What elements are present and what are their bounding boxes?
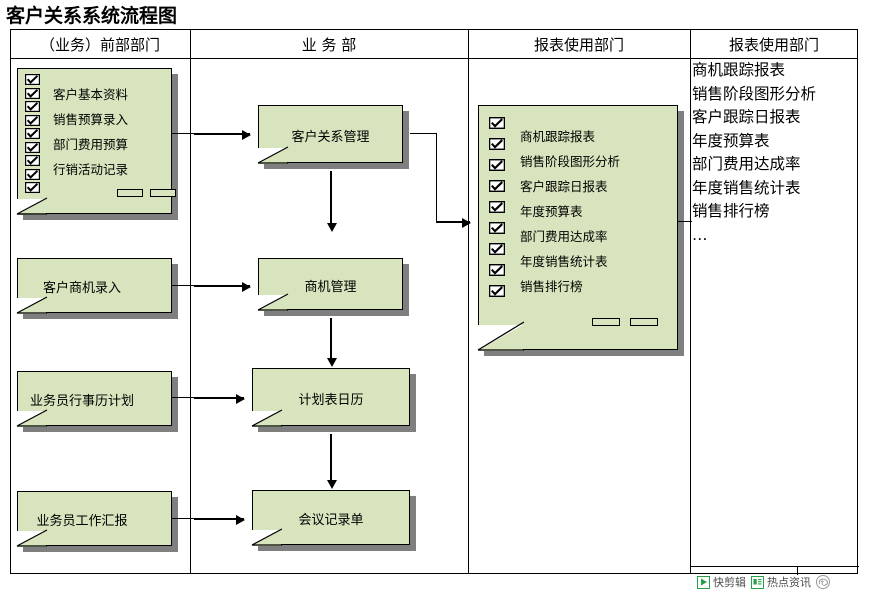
column-divider-1 xyxy=(190,29,191,574)
node-label: 业务员行事历计划 xyxy=(0,390,172,409)
doc-item: 年度预算表 xyxy=(520,199,620,224)
checkbox-checked-icon[interactable] xyxy=(489,117,505,129)
connector-vert-1 xyxy=(436,133,437,221)
ie-browser-icon[interactable] xyxy=(816,575,830,589)
doc-item-list: 客户基本资料销售预算录入部门费用预算行销活动记录 xyxy=(53,82,128,182)
checkbox-checked-icon[interactable] xyxy=(489,159,505,171)
report-list-item: … xyxy=(692,224,856,248)
doc-item: 行销活动记录 xyxy=(53,157,128,182)
checkbox-checked-icon[interactable] xyxy=(25,101,40,112)
node-label: 业务员工作汇报 xyxy=(0,510,172,529)
toolbar-label-quick-edit: 快剪辑 xyxy=(713,574,746,590)
flowchart-page: 客户关系系统流程图 （业务）前部部门 业 务 部 报表使用部门 报表使用部门 客… xyxy=(0,0,891,590)
folded-corner-edge xyxy=(251,528,285,546)
doc-button-pair[interactable] xyxy=(592,318,658,326)
checkbox-checked-icon[interactable] xyxy=(25,155,40,166)
checkbox-checked-icon[interactable] xyxy=(25,142,40,153)
folded-corner-edge xyxy=(16,529,50,547)
connector-stub-4 xyxy=(172,518,194,519)
checkbox-checked-icon[interactable] xyxy=(25,182,40,193)
toolbar-top-rule xyxy=(691,566,859,567)
checkbox-checked-icon[interactable] xyxy=(489,180,505,192)
play-clip-icon[interactable] xyxy=(697,576,710,589)
arrow-crm-to-reports xyxy=(436,221,470,223)
arrow-crm-to-opp-mgmt xyxy=(330,171,332,223)
doc-item: 客户基本资料 xyxy=(53,82,128,107)
column-header-report-dept-2: 报表使用部门 xyxy=(690,33,858,57)
doc-button-1[interactable] xyxy=(592,318,620,326)
toolbar-item-hot-news[interactable]: 热点资讯 xyxy=(751,574,811,590)
toolbar-label-hot-news: 热点资讯 xyxy=(767,574,811,590)
connector-stub-6 xyxy=(678,221,692,222)
checkbox-checked-icon[interactable] xyxy=(25,115,40,126)
arrow-opp-mgmt-to-plan-calendar xyxy=(330,318,332,358)
node-label: 计划表日历 xyxy=(252,389,410,408)
checkbox-column xyxy=(489,117,505,306)
report-text-list: 商机跟踪报表销售阶段图形分析客户跟踪日报表年度预算表部门费用达成率年度销售统计表… xyxy=(692,59,856,247)
node-salesperson-calendar-plan[interactable]: 业务员行事历计划 xyxy=(17,371,172,426)
checkbox-checked-icon[interactable] xyxy=(25,169,40,180)
connector-stub-1 xyxy=(172,133,194,134)
folded-corner-edge xyxy=(16,197,50,215)
checkbox-checked-icon[interactable] xyxy=(25,128,40,139)
doc-button-pair[interactable] xyxy=(117,189,176,197)
checkbox-checked-icon[interactable] xyxy=(489,264,505,276)
arrow-calendar-plan-to-plan-calendar xyxy=(194,397,244,399)
checkbox-checked-icon[interactable] xyxy=(25,88,40,99)
column-header-front-dept: （业务）前部部门 xyxy=(10,33,190,57)
folded-corner-edge xyxy=(257,146,291,164)
report-list-item: 客户跟踪日报表 xyxy=(692,106,856,130)
folded-corner-edge xyxy=(16,409,50,427)
doc-item: 商机跟踪报表 xyxy=(520,124,620,149)
column-divider-2 xyxy=(468,29,469,574)
doc-item: 客户跟踪日报表 xyxy=(520,174,620,199)
node-meeting-record[interactable]: 会议记录单 xyxy=(252,490,410,545)
node-crm-management[interactable]: 客户关系管理 xyxy=(258,105,403,163)
arrow-basic-to-crm xyxy=(194,133,250,135)
node-salesperson-work-report[interactable]: 业务员工作汇报 xyxy=(17,491,172,546)
checkbox-checked-icon[interactable] xyxy=(489,222,505,234)
node-label: 客户商机录入 xyxy=(0,277,172,296)
checkbox-column xyxy=(25,74,40,196)
folded-corner-edge xyxy=(257,293,291,311)
folded-corner-edge xyxy=(251,409,285,427)
node-opportunity-management[interactable]: 商机管理 xyxy=(258,258,403,310)
doc-item: 销售阶段图形分析 xyxy=(520,149,620,174)
arrow-plan-calendar-to-meeting xyxy=(330,434,332,480)
page-title: 客户关系系统流程图 xyxy=(6,1,177,28)
report-list-item: 部门费用达成率 xyxy=(692,153,856,177)
report-list-item: 销售排行榜 xyxy=(692,200,856,224)
doc-item: 年度销售统计表 xyxy=(520,249,620,274)
checkbox-checked-icon[interactable] xyxy=(489,138,505,150)
report-list-item: 销售阶段图形分析 xyxy=(692,83,856,107)
doc-button-2[interactable] xyxy=(630,318,658,326)
node-plan-calendar[interactable]: 计划表日历 xyxy=(252,368,410,426)
doc-button-2[interactable] xyxy=(150,189,176,197)
checkbox-checked-icon[interactable] xyxy=(489,201,505,213)
arrow-opp-entry-to-opp-mgmt xyxy=(194,285,250,287)
node-label: 会议记录单 xyxy=(252,509,410,528)
folded-corner-edge xyxy=(16,296,50,314)
checkbox-checked-icon[interactable] xyxy=(25,74,40,85)
checkbox-checked-icon[interactable] xyxy=(489,285,505,297)
arrow-work-report-to-meeting-record xyxy=(194,518,244,520)
doc-item: 销售排行榜 xyxy=(520,274,620,299)
bottom-toolbar[interactable]: 快剪辑 热点资讯 xyxy=(697,574,830,590)
column-header-business-dept: 业 务 部 xyxy=(190,33,468,57)
doc-item: 部门费用达成率 xyxy=(520,224,620,249)
node-label: 商机管理 xyxy=(258,276,403,295)
doc-item: 销售预算录入 xyxy=(53,107,128,132)
column-divider-3 xyxy=(690,29,691,574)
connector-stub-2 xyxy=(172,285,194,286)
node-customer-opportunity-entry[interactable]: 客户商机录入 xyxy=(17,258,172,313)
folded-corner-edge xyxy=(477,321,527,351)
report-list-item: 年度销售统计表 xyxy=(692,177,856,201)
column-header-report-dept-1: 报表使用部门 xyxy=(468,33,690,57)
node-report-list-doc[interactable]: 商机跟踪报表销售阶段图形分析客户跟踪日报表年度预算表部门费用达成率年度销售统计表… xyxy=(478,105,678,350)
report-list-item: 商机跟踪报表 xyxy=(692,59,856,83)
doc-item-list: 商机跟踪报表销售阶段图形分析客户跟踪日报表年度预算表部门费用达成率年度销售统计表… xyxy=(520,124,620,299)
doc-item: 部门费用预算 xyxy=(53,132,128,157)
toolbar-item-quick-edit[interactable]: 快剪辑 xyxy=(697,574,746,590)
report-list-item: 年度预算表 xyxy=(692,130,856,154)
node-label: 客户关系管理 xyxy=(258,126,403,145)
checkbox-checked-icon[interactable] xyxy=(489,243,505,255)
connector-stub-5 xyxy=(410,133,436,134)
news-icon[interactable] xyxy=(751,576,764,589)
node-customer-basic-doc[interactable]: 客户基本资料销售预算录入部门费用预算行销活动记录 xyxy=(17,68,172,214)
connector-stub-3 xyxy=(172,397,194,398)
doc-button-1[interactable] xyxy=(117,189,143,197)
